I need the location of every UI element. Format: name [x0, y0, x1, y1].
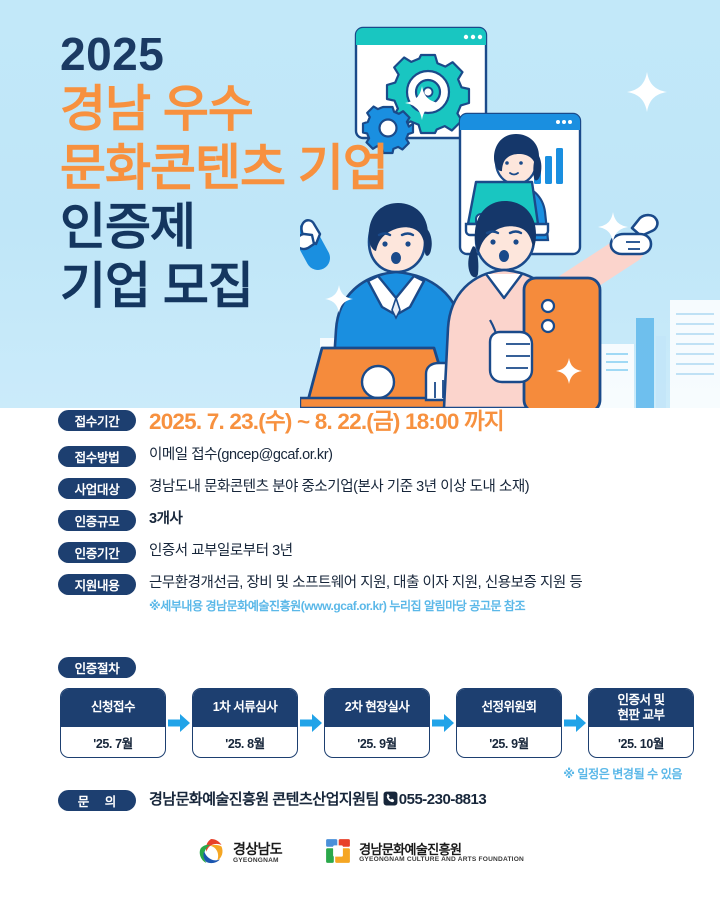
process-step-date: '25. 10월	[589, 727, 693, 757]
info-value-wrap: 이메일 접수(gncep@gcaf.or.kr)	[149, 444, 332, 466]
gyeongnam-emblem-icon	[196, 836, 226, 871]
footer-logos: 경상남도 GYEONGNAM 경남문화예술진흥원 GYEONGNAM CULTU…	[0, 836, 720, 871]
contact-phone: 055-230-8813	[399, 791, 486, 808]
logo-text-wrap: 경상남도 GYEONGNAM	[233, 842, 282, 865]
process-step-title: 1차 서류심사	[193, 689, 297, 727]
logo-gcaf: 경남문화예술진흥원 GYEONGNAM CULTURE AND ARTS FOU…	[324, 837, 524, 870]
info-value: 이메일 접수(gncep@gcaf.or.kr)	[149, 445, 332, 466]
process-step-date: '25. 9월	[457, 727, 561, 757]
process-step: 2차 현장실사 '25. 9월	[324, 688, 430, 758]
process-label-wrap: 인증절차	[0, 657, 720, 678]
info-label: 인증규모	[58, 510, 136, 531]
info-label: 접수기간	[58, 410, 136, 431]
contact-row: 문 의 경남문화예술진흥원 콘텐츠산업지원팀055-230-8813	[0, 788, 720, 811]
info-row-application-period: 접수기간 2025. 7. 23.(수) ~ 8. 22.(금) 18:00 까…	[0, 408, 720, 435]
poster-year: 2025	[60, 30, 388, 78]
info-value-wrap: 경남도내 문화콘텐츠 분야 중소기업(본사 기준 3년 이상 도내 소재)	[149, 476, 529, 498]
process-flow: 신청접수 '25. 7월 1차 서류심사 '25. 8월 2차 현장실사 '25…	[0, 688, 720, 758]
logo-name-ko: 경남문화예술진흥원	[359, 843, 524, 857]
info-row-scale: 인증규모 3개사	[0, 508, 720, 531]
process-step-title: 인증서 및 현판 교부	[589, 689, 693, 727]
info-value: 근무환경개선금, 장비 및 소프트웨어 지원, 대출 이자 지원, 신용보증 지…	[149, 573, 582, 594]
process-section: 인증절차 신청접수 '25. 7월 1차 서류심사 '25. 8월 2차 현장실…	[0, 655, 720, 782]
logo-gyeongnam: 경상남도 GYEONGNAM	[196, 836, 282, 871]
process-step-title: 신청접수	[61, 689, 165, 727]
poster-root: 2025 경남 우수 문화콘텐츠 기업 인증제 기업 모집 접수기간 2025.…	[0, 0, 720, 900]
info-label: 접수방법	[58, 446, 136, 467]
process-step: 인증서 및 현판 교부 '25. 10월	[588, 688, 694, 758]
process-step: 신청접수 '25. 7월	[60, 688, 166, 758]
info-label: 사업대상	[58, 478, 136, 499]
info-value: 3개사	[149, 509, 182, 530]
process-step-date: '25. 9월	[325, 727, 429, 757]
contact-value-wrap: 경남문화예술진흥원 콘텐츠산업지원팀055-230-8813	[149, 788, 486, 811]
info-value: 2025. 7. 23.(수) ~ 8. 22.(금) 18:00 까지	[149, 409, 504, 435]
phone-icon	[383, 791, 398, 811]
gcaf-emblem-icon	[324, 837, 352, 870]
info-value-wrap: 3개사	[149, 508, 182, 530]
info-value: 인증서 교부일로부터 3년	[149, 541, 293, 562]
logo-name-ko: 경상남도	[233, 842, 282, 857]
info-value-wrap: 근무환경개선금, 장비 및 소프트웨어 지원, 대출 이자 지원, 신용보증 지…	[149, 572, 582, 614]
info-note: ※세부내용 경남문화예술진흥원(www.gcaf.or.kr) 누리집 알림마당…	[149, 597, 582, 614]
hero-title-block: 2025 경남 우수 문화콘텐츠 기업 인증제 기업 모집	[60, 30, 388, 316]
logo-name-en: GYEONGNAM	[233, 858, 282, 865]
info-value-wrap: 인증서 교부일로부터 3년	[149, 540, 293, 562]
title-line-2: 문화콘텐츠 기업	[60, 139, 388, 198]
title-line-4: 기업 모집	[60, 257, 388, 316]
process-step-date: '25. 7월	[61, 727, 165, 757]
process-label: 인증절차	[58, 657, 136, 678]
hero-section: 2025 경남 우수 문화콘텐츠 기업 인증제 기업 모집	[0, 0, 720, 408]
info-label: 인증기간	[58, 542, 136, 563]
arrow-right-icon	[166, 714, 192, 732]
info-value-wrap: 2025. 7. 23.(수) ~ 8. 22.(금) 18:00 까지	[149, 408, 504, 435]
arrow-right-icon	[298, 714, 324, 732]
arrow-right-icon	[430, 714, 456, 732]
contact-label: 문 의	[58, 790, 136, 811]
process-step-title: 2차 현장실사	[325, 689, 429, 727]
info-label: 지원내용	[58, 574, 136, 595]
info-row-support: 지원내용 근무환경개선금, 장비 및 소프트웨어 지원, 대출 이자 지원, 신…	[0, 572, 720, 614]
info-list: 접수기간 2025. 7. 23.(수) ~ 8. 22.(금) 18:00 까…	[0, 408, 720, 623]
contact-organization: 경남문화예술진흥원 콘텐츠산업지원팀	[149, 791, 379, 808]
arrow-right-icon	[562, 714, 588, 732]
process-step-title: 선정위원회	[457, 689, 561, 727]
info-row-period: 인증기간 인증서 교부일로부터 3년	[0, 540, 720, 563]
logo-text-wrap: 경남문화예술진흥원 GYEONGNAM CULTURE AND ARTS FOU…	[359, 843, 524, 865]
title-line-1: 경남 우수	[60, 80, 388, 139]
info-row-application-method: 접수방법 이메일 접수(gncep@gcaf.or.kr)	[0, 444, 720, 467]
title-line-3: 인증제	[60, 198, 388, 257]
info-value: 경남도내 문화콘텐츠 분야 중소기업(본사 기준 3년 이상 도내 소재)	[149, 477, 529, 498]
logo-name-en: GYEONGNAM CULTURE AND ARTS FOUNDATION	[359, 857, 524, 864]
process-step: 선정위원회 '25. 9월	[456, 688, 562, 758]
process-step: 1차 서류심사 '25. 8월	[192, 688, 298, 758]
process-note: ※ 일정은 변경될 수 있음	[0, 765, 720, 782]
info-row-target: 사업대상 경남도내 문화콘텐츠 분야 중소기업(본사 기준 3년 이상 도내 소…	[0, 476, 720, 499]
process-step-date: '25. 8월	[193, 727, 297, 757]
